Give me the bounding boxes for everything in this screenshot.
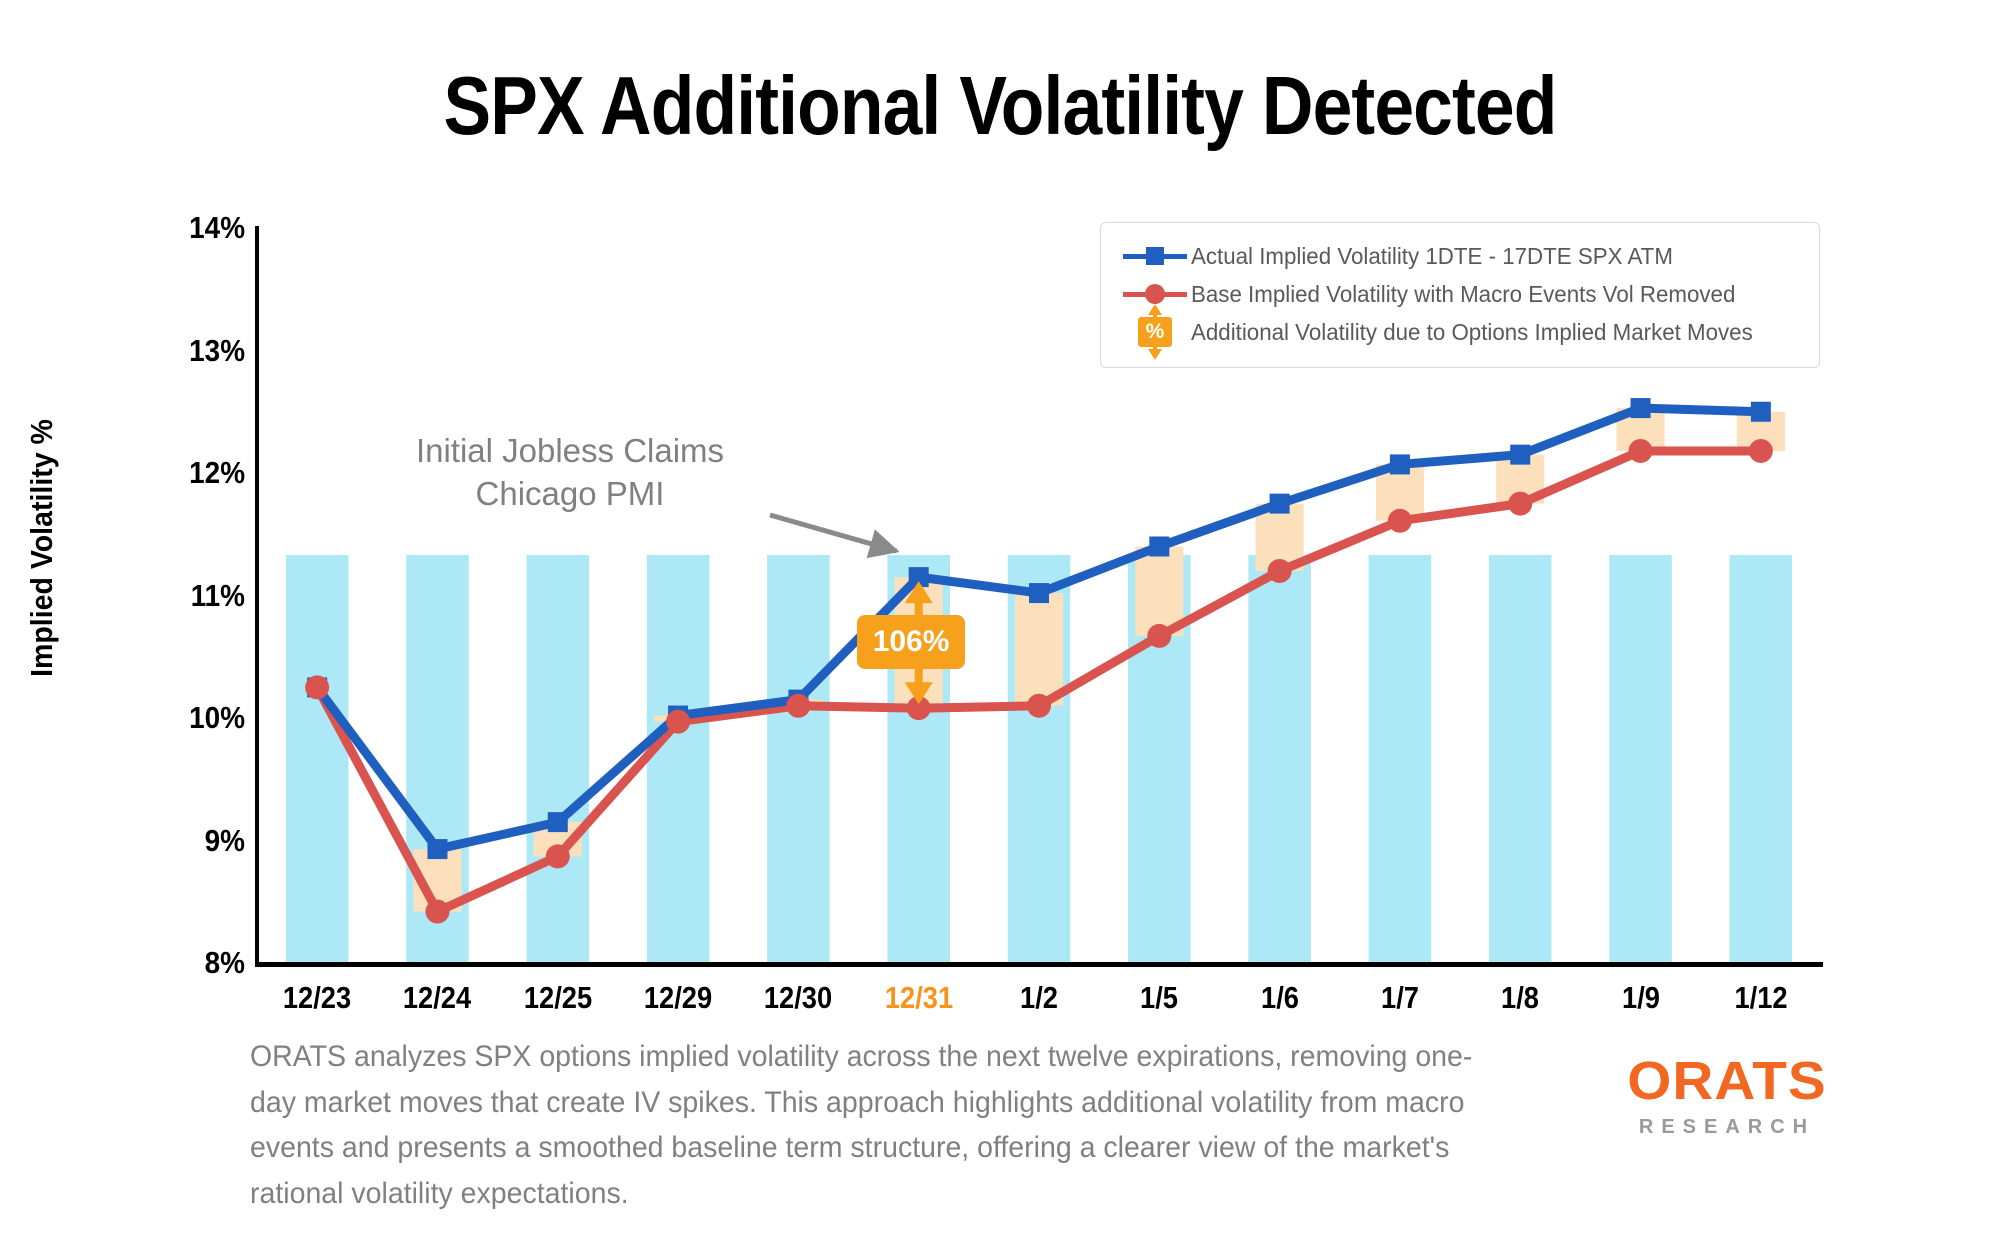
legend-item-actual-iv[interactable]: Actual Implied Volatility 1DTE - 17DTE S… <box>1119 237 1801 275</box>
data-point-marker-base[interactable] <box>425 900 449 924</box>
data-point-marker-actual[interactable] <box>548 812 568 832</box>
y-axis-tick-label: 12% <box>146 455 245 491</box>
logo-wordmark: ORATS <box>1606 1050 1848 1112</box>
x-axis-tick-label: 1/8 <box>1501 980 1539 1016</box>
y-axis-ticks: 8%9%10%11%12%13%14% <box>125 0 245 1240</box>
event-annotation: Initial Jobless Claims Chicago PMI <box>390 430 750 516</box>
y-axis-tick-label: 10% <box>146 700 245 736</box>
x-axis-tick-label: 1/5 <box>1140 980 1178 1016</box>
x-axis-tick-label: 1/6 <box>1261 980 1299 1016</box>
category-band <box>647 555 710 963</box>
category-band <box>1730 555 1793 963</box>
x-axis-tick-label: 12/31 <box>885 980 953 1016</box>
x-axis-tick-label: 12/29 <box>644 980 712 1016</box>
data-point-marker-base[interactable] <box>546 844 570 868</box>
x-axis-tick-label: 12/25 <box>524 980 592 1016</box>
legend-label-additional-vol: Additional Volatility due to Options Imp… <box>1191 319 1753 346</box>
data-point-marker-base[interactable] <box>1268 559 1292 583</box>
y-axis-tick-label: 11% <box>146 578 245 614</box>
x-axis-tick-label: 12/24 <box>403 980 471 1016</box>
category-band <box>1369 555 1432 963</box>
y-axis-tick-label: 14% <box>146 210 245 246</box>
percent-badge-icon: % <box>1138 317 1172 347</box>
data-point-marker-actual[interactable] <box>1510 445 1530 465</box>
legend-label-actual-iv: Actual Implied Volatility 1DTE - 17DTE S… <box>1191 243 1673 270</box>
data-point-marker-base[interactable] <box>1749 439 1773 463</box>
x-axis-tick-label: 1/12 <box>1734 980 1787 1016</box>
data-point-marker-base[interactable] <box>666 710 690 734</box>
y-axis-line <box>255 226 259 966</box>
x-axis-tick-label: 12/30 <box>764 980 832 1016</box>
legend-label-base-iv: Base Implied Volatility with Macro Event… <box>1191 281 1735 308</box>
legend-key-blue-line-square-marker <box>1119 237 1191 275</box>
orats-research-logo: ORATS RESEARCH <box>1612 1050 1842 1139</box>
category-band <box>767 555 830 963</box>
x-axis-tick-label: 1/7 <box>1381 980 1419 1016</box>
data-point-marker-base[interactable] <box>1508 492 1532 516</box>
y-axis-tick-label: 13% <box>146 333 245 369</box>
annotation-line-1: Initial Jobless Claims <box>390 430 750 473</box>
data-point-marker-actual[interactable] <box>1631 398 1651 418</box>
logo-subtitle: RESEARCH <box>1612 1116 1842 1139</box>
x-axis-tick-label: 12/23 <box>283 980 351 1016</box>
category-band <box>1248 555 1311 963</box>
category-band <box>1609 555 1672 963</box>
data-point-marker-base[interactable] <box>1027 694 1051 718</box>
x-axis-tick-label: 1/2 <box>1020 980 1058 1016</box>
category-band <box>1489 555 1552 963</box>
annotation-line-2: Chicago PMI <box>390 473 750 516</box>
data-point-marker-base[interactable] <box>786 694 810 718</box>
data-point-marker-actual[interactable] <box>1149 537 1169 557</box>
additional-volatility-fill <box>1015 593 1063 706</box>
x-axis-line <box>255 962 1823 967</box>
y-axis-title: Implied Volatility % <box>24 355 60 741</box>
y-axis-tick-label: 9% <box>146 823 245 859</box>
x-axis-tick-label: 1/9 <box>1622 980 1660 1016</box>
chart-legend: Actual Implied Volatility 1DTE - 17DTE S… <box>1100 222 1820 368</box>
footer-description: ORATS analyzes SPX options implied volat… <box>250 1034 1514 1216</box>
y-axis-tick-label: 8% <box>146 945 245 981</box>
legend-item-base-iv[interactable]: Base Implied Volatility with Macro Event… <box>1119 275 1801 313</box>
data-point-marker-base[interactable] <box>1388 509 1412 533</box>
data-point-marker-actual[interactable] <box>1270 494 1290 514</box>
additional-volatility-badge: 106% <box>857 615 966 669</box>
annotation-arrow <box>770 515 897 551</box>
data-point-marker-actual[interactable] <box>1390 454 1410 474</box>
data-point-marker-actual[interactable] <box>427 839 447 859</box>
data-point-marker-base[interactable] <box>1629 439 1653 463</box>
legend-item-additional-vol[interactable]: % Additional Volatility due to Options I… <box>1119 313 1801 351</box>
data-point-marker-actual[interactable] <box>1029 583 1049 603</box>
data-point-marker-base[interactable] <box>1147 624 1171 648</box>
category-band <box>286 555 349 963</box>
legend-key-orange-percent-badge: % <box>1119 313 1191 351</box>
category-band <box>526 555 589 963</box>
data-point-marker-base[interactable] <box>305 675 329 699</box>
data-point-marker-actual[interactable] <box>1751 402 1771 422</box>
